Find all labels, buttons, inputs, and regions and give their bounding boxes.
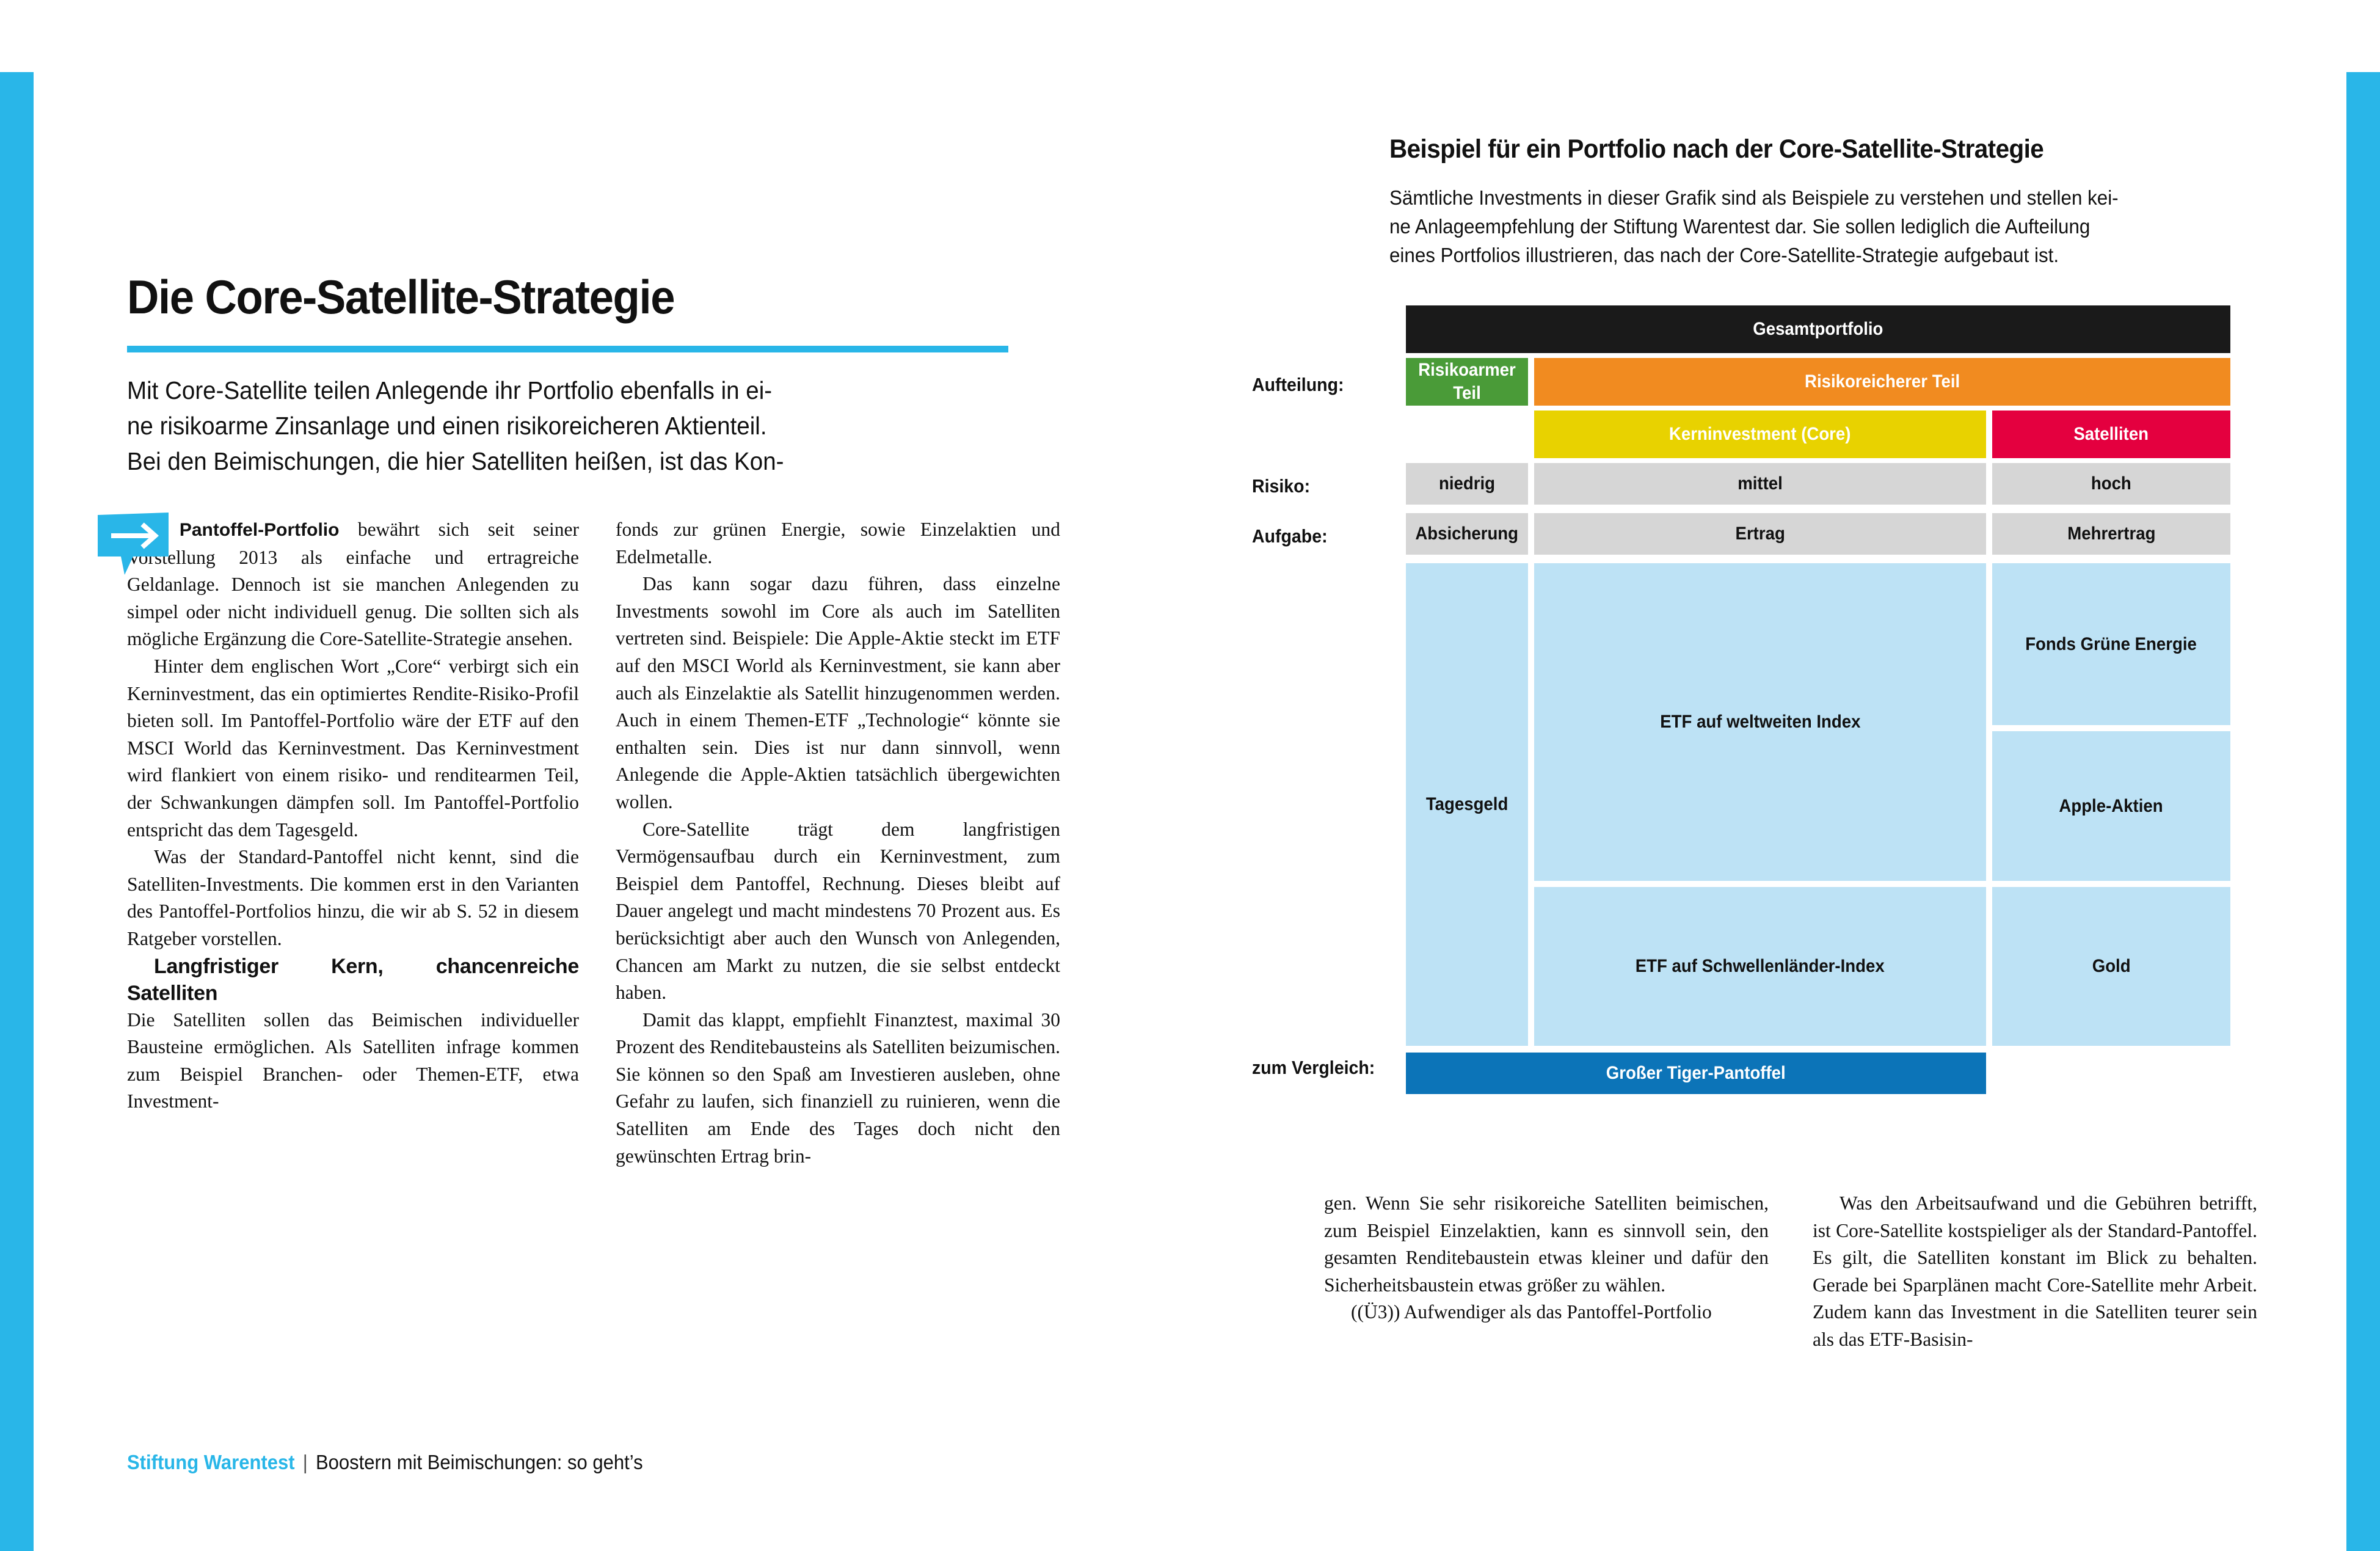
cell-kerninvestment-core: Kerninvestment (Core): [1534, 411, 1986, 458]
cell-risikoreicherer-teil: Risikoreicherer Teil: [1534, 358, 2230, 406]
cell-label: ETF auf Schwellenländer-Index: [1636, 955, 1885, 978]
standfirst-line-3: Bei den Beimischungen, die hier Satellit…: [127, 443, 959, 479]
cell-risiko-hoch: hoch: [1992, 463, 2230, 505]
cell-investment-tagesgeld: Tagesgeld: [1406, 563, 1528, 1046]
cell-label: hoch: [2091, 472, 2131, 495]
body-column-1: Das Pantoffel-Portfolio bewährt sich sei…: [127, 516, 579, 1115]
row-label-aufgabe: Aufgabe:: [1252, 525, 1373, 547]
cell-investment-gold: Gold: [1992, 887, 2230, 1046]
cell-investment-etf-weltweit: ETF auf weltweiten Index: [1534, 563, 1986, 881]
cell-label: Mehrertrag: [2067, 522, 2155, 546]
graphic-title: Beispiel für ein Portfolio nach der Core…: [1389, 133, 2205, 165]
cell-label: Kerninvestment (Core): [1669, 423, 1851, 446]
standfirst-line-2: ne risikoarme Zinsanlage und einen risik…: [127, 408, 959, 443]
cell-label: Apple-Aktien: [2059, 795, 2163, 818]
paragraph: Was den Arbeitsaufwand und die Gebühren …: [1813, 1190, 2257, 1354]
body-column-2: fonds zur grünen Energie, sowie Einzelak…: [616, 516, 1060, 1170]
arrow-bubble-icon: [96, 511, 172, 576]
cell-risikoarmer-teil: Risikoarmer Teil: [1406, 358, 1528, 406]
graphic-subtitle-line-3: eines Portfolios illustrieren, das nach …: [1389, 241, 2233, 269]
cell-label: Ertrag: [1735, 522, 1785, 546]
paragraph: Hinter dem englischen Wort „Core“ verbir…: [127, 653, 579, 844]
cell-investment-apple-aktien: Apple-Aktien: [1992, 731, 2230, 881]
cell-label: Gesamtportfolio: [1753, 318, 1883, 341]
article-block: Die Core-Satellite-Strategie Mit Core-Sa…: [127, 0, 1055, 1551]
standfirst-line-1: Mit Core-Satellite teilen Anlegende ihr …: [127, 373, 959, 408]
paragraph: gen. Wenn Sie sehr risikoreiche Satellit…: [1324, 1190, 1769, 1299]
footer: Stiftung Warentest | Boostern mit Beimis…: [127, 1451, 643, 1474]
cell-gesamtportfolio: Gesamtportfolio: [1406, 305, 2230, 353]
row-label-aufteilung: Aufteilung:: [1252, 374, 1373, 396]
cell-label: Großer Tiger-Pantoffel: [1606, 1062, 1786, 1085]
cell-label: Satelliten: [2074, 423, 2149, 446]
cell-label: ETF auf weltweiten Index: [1660, 710, 1860, 734]
cell-vergleich-tiger-pantoffel: Großer Tiger-Pantoffel: [1406, 1053, 1986, 1094]
footer-text: Boostern mit Beimischungen: so geht’s: [316, 1451, 643, 1474]
page-title: Die Core-Satellite-Strategie: [127, 271, 967, 323]
cell-investment-etf-schwellenlaender: ETF auf Schwellenländer-Index: [1534, 887, 1986, 1046]
paragraph: Das Pantoffel-Portfolio bewährt sich sei…: [127, 516, 579, 653]
paragraph: Das kann sogar dazu führen, dass einzeln…: [616, 571, 1060, 816]
standfirst: Mit Core-Satellite teilen Anlegende ihr …: [127, 373, 959, 479]
section-subheading: Langfristiger Kern, chancenreiche Satell…: [127, 953, 579, 1007]
row-label-vergleich: zum Vergleich:: [1252, 1057, 1381, 1079]
paragraph: Die Satelliten sollen das Beimischen ind…: [127, 1007, 579, 1115]
cell-label: Tagesgeld: [1426, 793, 1508, 816]
paragraph: Damit das klappt, empfiehlt Finanztest, …: [616, 1007, 1060, 1170]
cell-label: Gold: [2092, 955, 2131, 978]
paragraph: fonds zur grünen Energie, sowie Einzelak…: [616, 516, 1060, 571]
cell-risiko-niedrig: niedrig: [1406, 463, 1528, 505]
body-column-3: gen. Wenn Sie sehr risikoreiche Satellit…: [1324, 1190, 1769, 1326]
cell-aufgabe-mehrertrag: Mehrertrag: [1992, 513, 2230, 555]
footer-separator: |: [303, 1451, 308, 1474]
cell-label: Risikoreicherer Teil: [1805, 370, 1960, 393]
cell-investment-fonds-gruene-energie: Fonds Grüne Energie: [1992, 563, 2230, 725]
cell-label: niedrig: [1439, 472, 1495, 495]
row-label-risiko: Risiko:: [1252, 475, 1373, 497]
paragraph: ((Ü3)) Aufwendiger als das Pantoffel-Por…: [1324, 1299, 1769, 1326]
portfolio-diagram: Aufteilung: Risiko: Aufgabe: zum Verglei…: [1252, 299, 2266, 1112]
paragraph: Was der Standard-Pantoffel nicht kennt, …: [127, 844, 579, 952]
graphic-subtitle: Sämtliche Investments in dieser Grafik s…: [1389, 183, 2233, 269]
title-underline: [127, 346, 1008, 352]
cell-aufgabe-ertrag: Ertrag: [1534, 513, 1986, 555]
cell-label: Fonds Grüne Energie: [2026, 633, 2197, 656]
body-column-4: Was den Arbeitsaufwand und die Gebühren …: [1813, 1190, 2257, 1354]
cell-label: Absicherung: [1416, 522, 1519, 546]
cell-label: Risikoarmer Teil: [1413, 359, 1521, 405]
cell-label: mittel: [1738, 472, 1783, 495]
cell-risiko-mittel: mittel: [1534, 463, 1986, 505]
paragraph: Core-Satellite trägt dem langfristigen V…: [616, 816, 1060, 1007]
left-accent-bar: [0, 72, 34, 1551]
cell-aufgabe-absicherung: Absicherung: [1406, 513, 1528, 555]
cell-satelliten: Satelliten: [1992, 411, 2230, 458]
graphic-subtitle-line-1: Sämtliche Investments in dieser Grafik s…: [1389, 183, 2233, 212]
graphic-subtitle-line-2: ne Anlageempfehlung der Stiftung Warente…: [1389, 212, 2233, 241]
footer-brand: Stiftung Warentest: [127, 1451, 295, 1474]
right-accent-bar: [2346, 72, 2380, 1551]
